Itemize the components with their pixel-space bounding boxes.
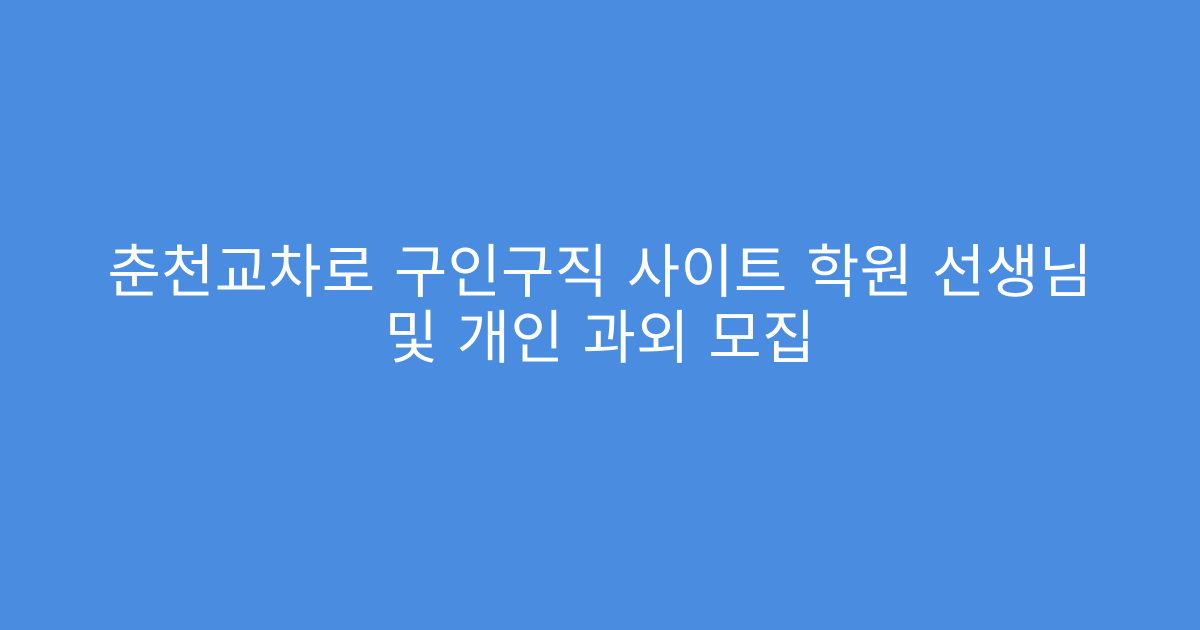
page-title: 춘천교차로 구인구직 사이트 학원 선생님 및 개인 과외 모집 [78,239,1122,371]
og-card-content: 춘천교차로 구인구직 사이트 학원 선생님 및 개인 과외 모집 [0,239,1200,371]
og-card: 춘천교차로 구인구직 사이트 학원 선생님 및 개인 과외 모집 [0,0,1200,630]
